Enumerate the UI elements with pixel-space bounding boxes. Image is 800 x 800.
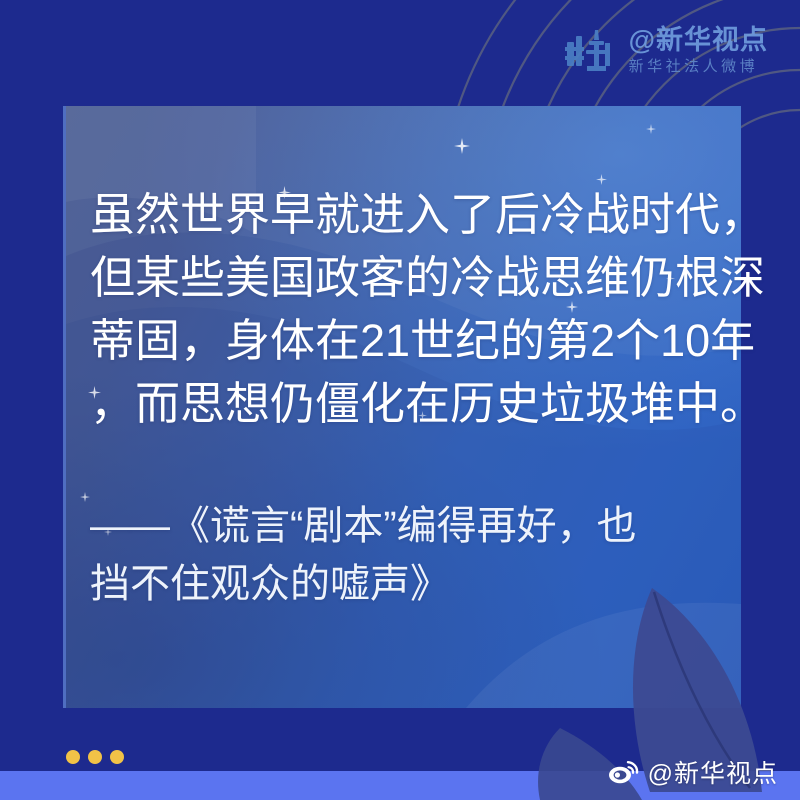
weibo-handle-label: @新华视点 [648, 754, 778, 790]
xinhua-logo-mark-icon [565, 26, 619, 74]
sparkle-star-icon [646, 124, 656, 134]
quote-line: 虽然世界早就进入了后冷战时代， [90, 183, 720, 246]
brand-handle: @新华视点 [629, 27, 768, 54]
gold-dot [88, 750, 102, 764]
attribution-line: ——《谎言“剧本”编得再好，也 [90, 497, 730, 555]
brand-subtitle: 新华社法人微博 [629, 59, 768, 74]
brand-lockup: @新华视点 新华社法人微博 [565, 26, 768, 74]
gold-dot [110, 750, 124, 764]
weibo-logo-icon [608, 759, 640, 785]
brand-text-group: @新华视点 新华社法人微博 [629, 27, 768, 74]
attribution-block: ——《谎言“剧本”编得再好，也 挡不住观众的嘘声》 [90, 497, 730, 613]
quote-line: 蒂固，身体在21世纪的第2个10年 [90, 309, 720, 372]
gold-dot-group [66, 750, 124, 764]
poster-canvas: @新华视点 新华社法人微博 [0, 0, 800, 800]
attribution-line: 挡不住观众的嘘声》 [90, 555, 730, 613]
gold-dot [66, 750, 80, 764]
sparkle-star-icon [80, 492, 90, 502]
quote-line: 但某些美国政客的冷战思维仍根深 [90, 246, 720, 309]
quote-line: ，而思想仍僵化在历史垃圾堆中。 [90, 372, 720, 435]
sparkle-star-icon [454, 138, 470, 154]
weibo-handle-group: @新华视点 [608, 754, 778, 790]
quote-text-block: 虽然世界早就进入了后冷战时代， 但某些美国政客的冷战思维仍根深 蒂固，身体在21… [90, 183, 720, 435]
